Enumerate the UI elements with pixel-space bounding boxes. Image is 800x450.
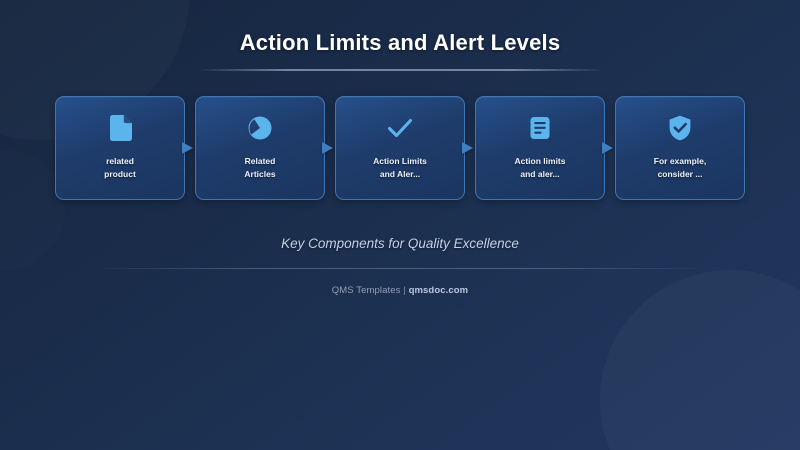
footer: QMS Templates | qmsdoc.com <box>0 285 800 296</box>
file-document-icon <box>105 113 135 143</box>
pie-chart-icon <box>245 113 275 143</box>
arrow-right-icon <box>602 142 613 154</box>
footer-separator: | <box>403 285 406 296</box>
checkmark-icon <box>385 113 415 143</box>
flow-card-label: For example, consider ... <box>624 155 736 181</box>
decorative-circle-bottom-right <box>600 270 800 450</box>
document-lines-icon <box>525 113 555 143</box>
subtitle: Key Components for Quality Excellence <box>0 236 800 251</box>
title-divider <box>200 69 600 71</box>
flow-card-4[interactable]: Action limits and aler... <box>475 96 605 200</box>
shield-check-icon <box>665 113 695 143</box>
footer-brand: qmsdoc.com <box>409 285 469 296</box>
flow-card-2[interactable]: Related Articles <box>195 96 325 200</box>
footer-divider <box>100 268 700 269</box>
flow-card-label: related product <box>64 155 176 181</box>
flow-card-1[interactable]: related product <box>55 96 185 200</box>
flow-card-label: Related Articles <box>204 155 316 181</box>
flow-card-5[interactable]: For example, consider ... <box>615 96 745 200</box>
footer-source: QMS Templates <box>332 285 401 296</box>
process-flow-row: related product Related Articles Action … <box>55 96 745 200</box>
page-title: Action Limits and Alert Levels <box>0 30 800 56</box>
arrow-right-icon <box>462 142 473 154</box>
arrow-right-icon <box>322 142 333 154</box>
flow-card-3[interactable]: Action Limits and Aler... <box>335 96 465 200</box>
flow-card-label: Action Limits and Aler... <box>344 155 456 181</box>
slide-canvas: Action Limits and Alert Levels related p… <box>0 0 800 450</box>
arrow-right-icon <box>182 142 193 154</box>
flow-card-label: Action limits and aler... <box>484 155 596 181</box>
